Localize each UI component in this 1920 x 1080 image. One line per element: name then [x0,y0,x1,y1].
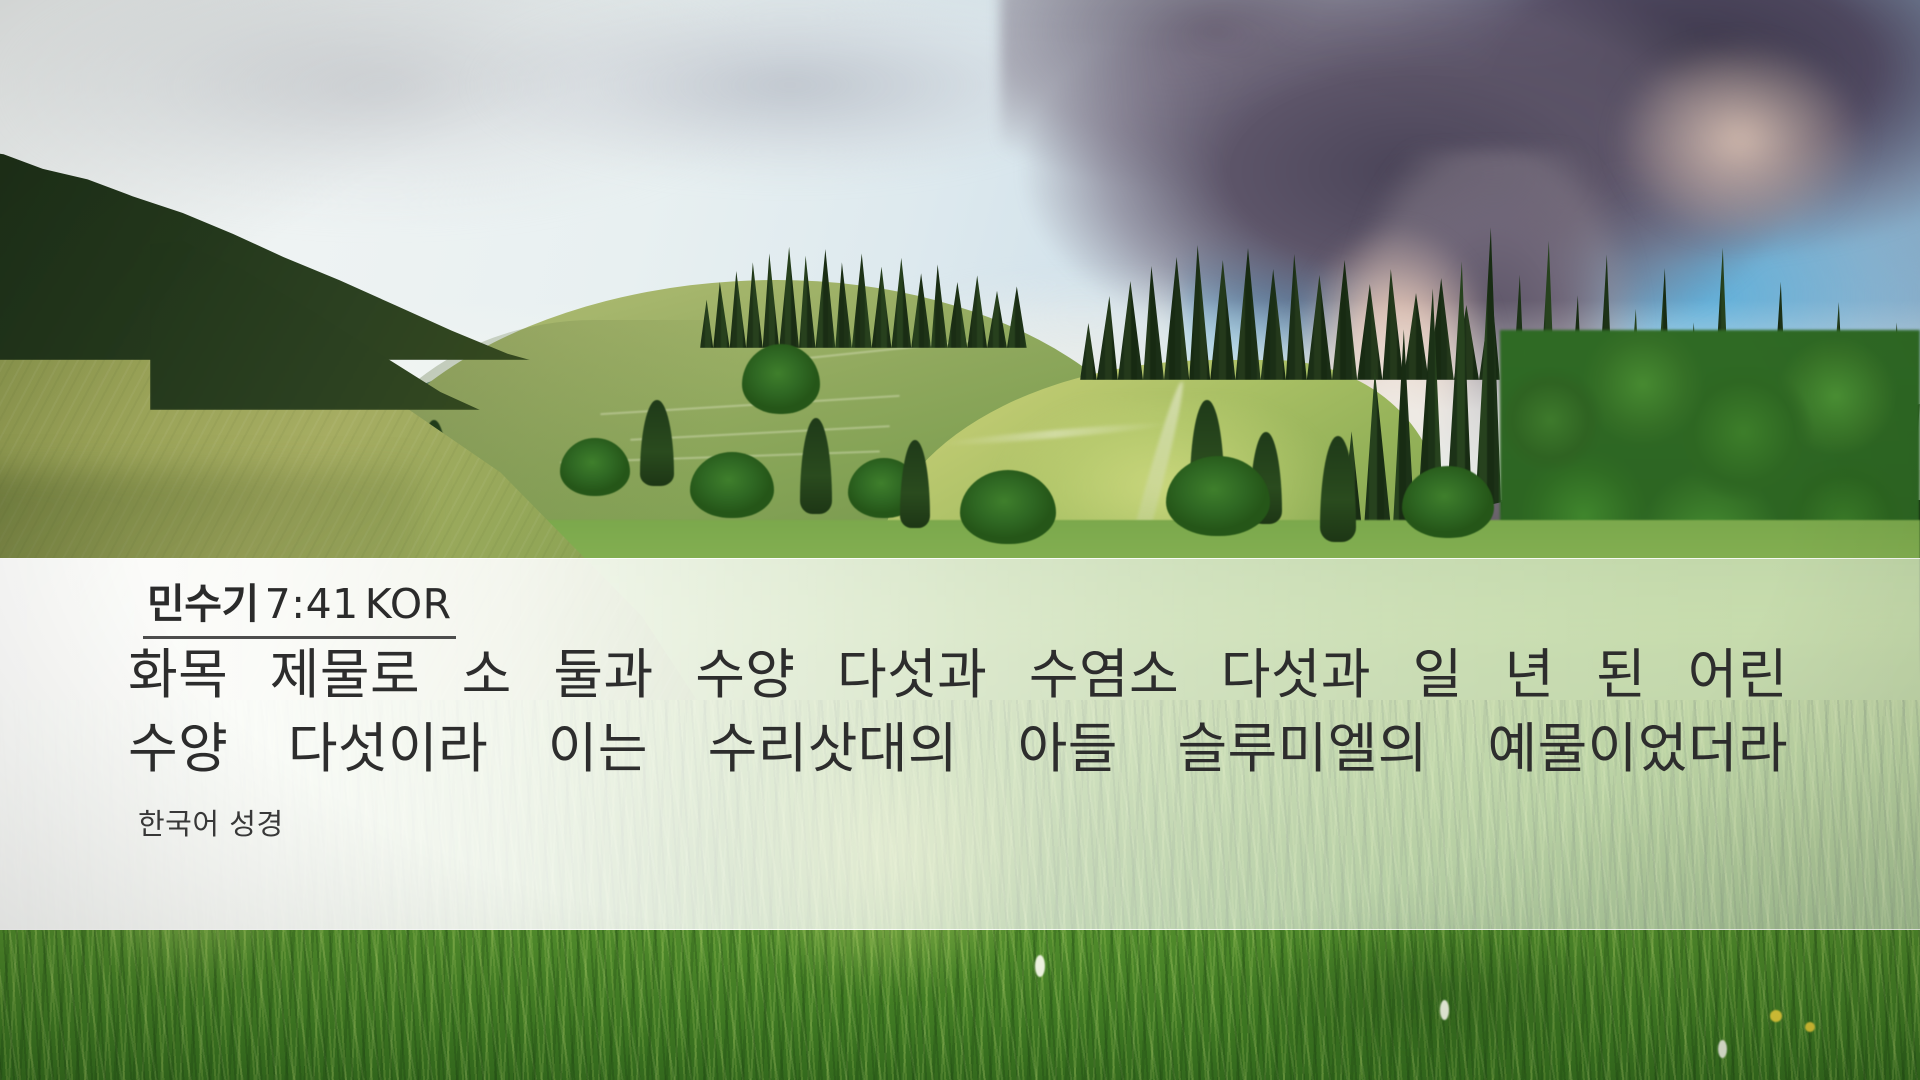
verse-reference: 민수기7:41KOR [143,570,456,639]
verse-word: 된 [1596,638,1646,712]
verse-word: 이는 [548,712,648,786]
verse-word: 다섯과 [837,638,987,712]
meadow-pine-tree [800,418,832,514]
verse-word: 제물로 [270,638,420,712]
verse-word: 일 [1413,638,1463,712]
verse-word: 다섯이라 [288,712,488,786]
meadow-tree [960,470,1056,544]
verse-word: 다섯과 [1221,638,1371,712]
verse-word: 둘과 [553,638,653,712]
yellow-wildflower [1770,1010,1782,1022]
verse-word: 어린 [1688,638,1788,712]
verse-source-label: 한국어 성경 [138,801,284,843]
verse-word: 아들 [1018,712,1118,786]
white-wildflower [1440,1000,1449,1020]
verse-word: 예물이었더라 [1488,712,1788,786]
meadow-tree [1402,466,1494,538]
verse-text: 화목제물로소둘과수양다섯과수염소다섯과일년된어린 수양다섯이라이는수리삿대의아들… [128,638,1788,786]
verse-word: 수리삿대의 [708,712,958,786]
meadow-tree [742,344,820,414]
verse-word: 수염소 [1029,638,1179,712]
warm-lit-cloud-b [1560,10,1920,270]
yellow-wildflower [1805,1022,1815,1032]
meadow-pine-tree [640,400,674,486]
verse-reference-book: 민수기 [147,580,259,628]
verse-reference-translation: KOR [365,580,452,628]
verse-word: 수양 [128,712,228,786]
verse-text-line-1: 화목제물로소둘과수양다섯과수염소다섯과일년된어린 [128,638,1788,712]
meadow-pine-tree [900,440,930,528]
verse-word: 소 [462,638,512,712]
meadow-tree [690,452,774,518]
meadow-pine-tree [1320,436,1356,542]
white-wildflower [1718,1040,1727,1058]
verse-text-line-2: 수양다섯이라이는수리삿대의아들슬루미엘의예물이었더라 [128,712,1788,786]
meadow-tree [560,438,630,496]
meadow-tree [1166,456,1270,536]
verse-word: 화목 [128,638,228,712]
verse-image-canvas: 민수기7:41KOR 화목제물로소둘과수양다섯과수염소다섯과일년된어린 수양다섯… [0,0,1920,1080]
white-wildflower [1035,955,1045,977]
verse-overlay-content: 민수기7:41KOR 화목제물로소둘과수양다섯과수염소다섯과일년된어린 수양다섯… [0,558,1920,930]
verse-word: 수양 [695,638,795,712]
verse-word: 슬루미엘의 [1177,712,1427,786]
verse-word: 년 [1504,638,1554,712]
verse-reference-chapter-verse: 7:41 [265,580,359,628]
